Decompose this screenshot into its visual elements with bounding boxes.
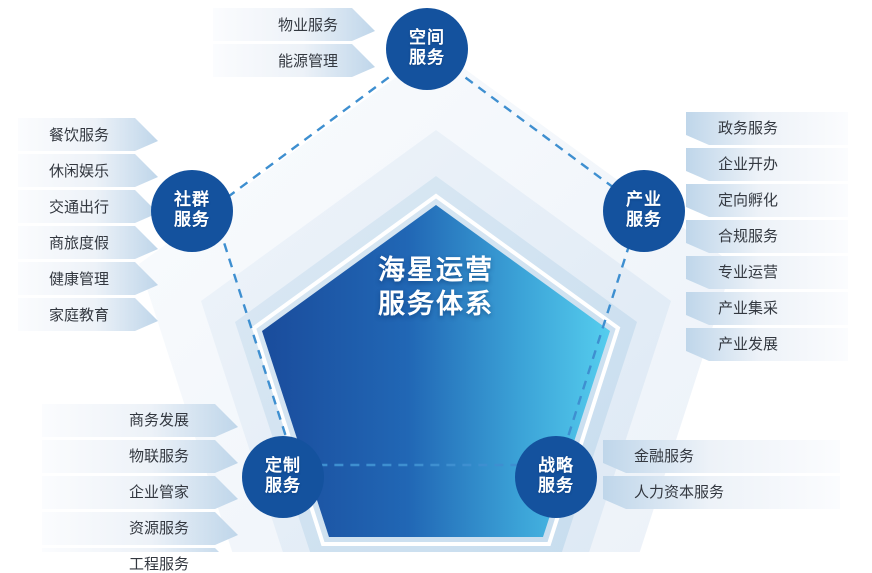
ribbon-label-space-0[interactable]: 物业服务 <box>278 18 338 33</box>
ribbon-label-industry-5[interactable]: 产业集采 <box>718 301 778 316</box>
ribbon-label-strategy-0[interactable]: 金融服务 <box>634 449 694 464</box>
ribbon-label-industry-2[interactable]: 定向孵化 <box>718 193 778 208</box>
node-circle-space[interactable] <box>386 8 468 90</box>
ribbon-label-industry-3[interactable]: 合规服务 <box>718 229 778 244</box>
ribbon-label-industry-6[interactable]: 产业发展 <box>718 337 778 352</box>
node-circle-strategy[interactable] <box>515 436 597 518</box>
ribbon-label-custom-1[interactable]: 物联服务 <box>129 449 189 464</box>
center-title-line1: 海星运营 <box>316 253 556 287</box>
node-circle-community[interactable] <box>151 170 233 252</box>
ribbon-label-community-2[interactable]: 交通出行 <box>49 200 109 215</box>
ribbon-label-strategy-1[interactable]: 人力资本服务 <box>634 485 724 500</box>
diagram-canvas: 空间 服务 社群 服务 产业 服务 定制 服务 战略 服务 海星运营 服务体系 … <box>0 0 872 552</box>
ribbon-label-custom-4[interactable]: 工程服务 <box>129 557 189 572</box>
ribbon-label-community-5[interactable]: 家庭教育 <box>49 308 109 323</box>
ribbon-label-community-4[interactable]: 健康管理 <box>49 272 109 287</box>
ribbon-label-custom-0[interactable]: 商务发展 <box>129 413 189 428</box>
ribbon-custom-4[interactable] <box>42 548 238 552</box>
ribbon-label-community-0[interactable]: 餐饮服务 <box>49 128 109 143</box>
node-circle-industry[interactable] <box>603 170 685 252</box>
ribbon-label-space-1[interactable]: 能源管理 <box>278 54 338 69</box>
center-title: 海星运营 服务体系 <box>316 253 556 321</box>
ribbon-label-industry-1[interactable]: 企业开办 <box>718 157 778 172</box>
ribbon-label-industry-0[interactable]: 政务服务 <box>718 121 778 136</box>
ribbon-label-community-3[interactable]: 商旅度假 <box>49 236 109 251</box>
ribbon-group-community <box>18 118 158 331</box>
ribbon-label-industry-4[interactable]: 专业运营 <box>718 265 778 280</box>
ribbon-label-custom-3[interactable]: 资源服务 <box>129 521 189 536</box>
ribbon-label-community-1[interactable]: 休闲娱乐 <box>49 164 109 179</box>
node-circle-custom[interactable] <box>242 436 324 518</box>
ribbon-label-custom-2[interactable]: 企业管家 <box>129 485 189 500</box>
center-title-line2: 服务体系 <box>316 287 556 321</box>
